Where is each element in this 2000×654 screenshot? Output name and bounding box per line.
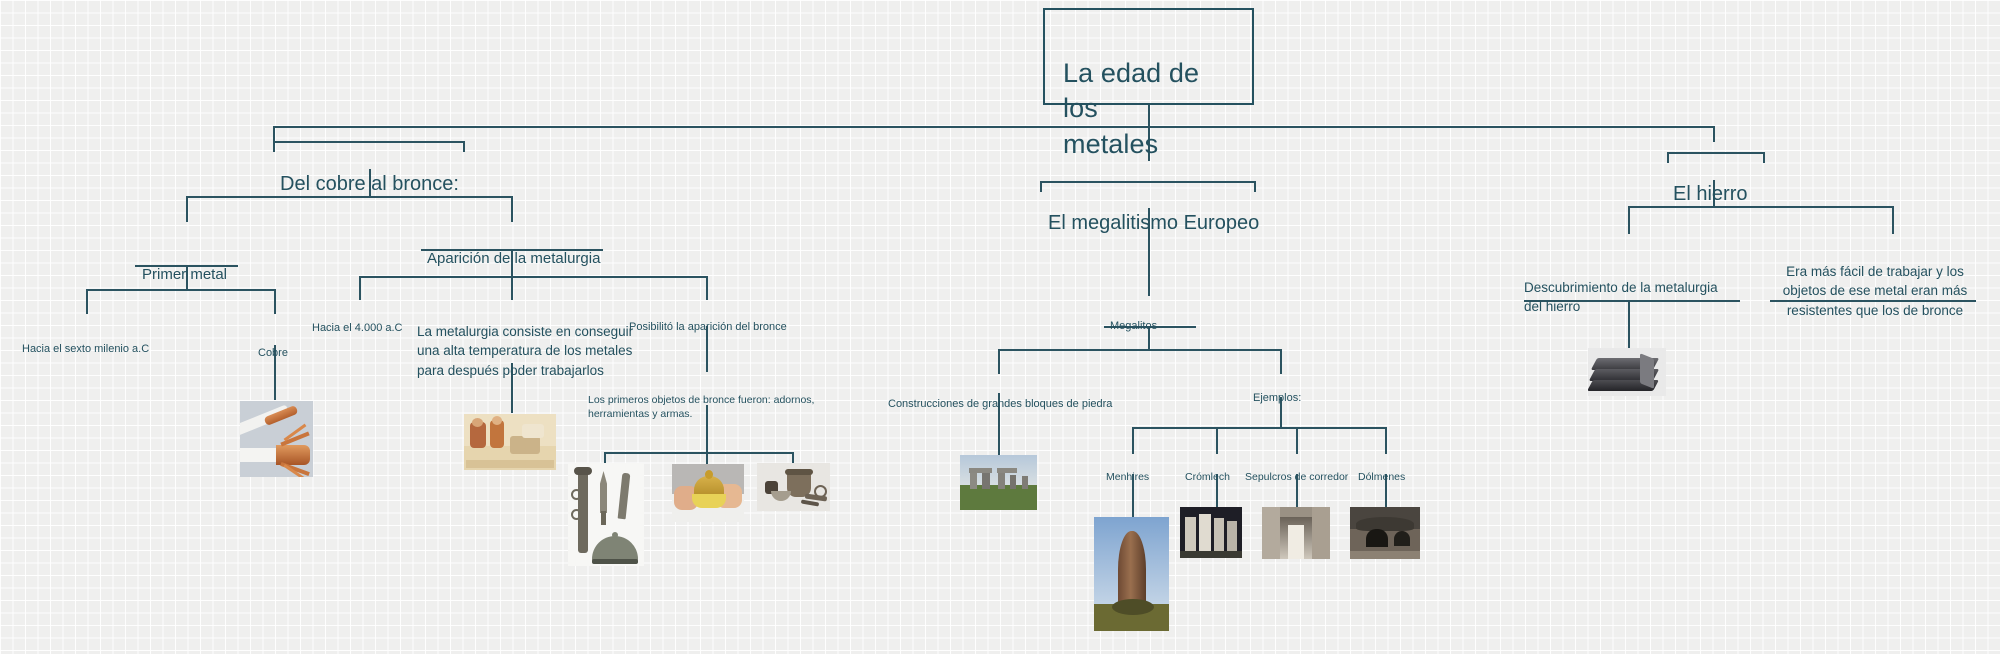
node-label: Hacia el sexto milenio a.C	[22, 343, 149, 355]
dolmen-photo[interactable]	[1350, 507, 1420, 559]
connector-to-construcciones	[998, 349, 1000, 374]
stonehenge-photo[interactable]	[960, 455, 1037, 510]
bronze-helmet-hands-photo[interactable]	[672, 464, 744, 522]
connector-drop-cobre	[273, 126, 275, 142]
bronze-vessels-photo[interactable]	[757, 463, 830, 511]
root-title-box[interactable]: La edad de los metales	[1043, 8, 1254, 105]
connector-to-bronze-img2	[706, 452, 708, 464]
node-el-megalitismo-europeo[interactable]: El megalitismo Europeo	[1048, 186, 1308, 236]
node-el-hierro[interactable]: El hierro	[1673, 157, 1813, 207]
tick-cobre-bronce-left	[273, 141, 275, 152]
connector-to-primer-metal	[186, 196, 188, 222]
iron-bars-photo[interactable]	[1588, 348, 1666, 396]
underline-cobre-bronce	[273, 141, 465, 143]
node-label: Primer metal	[142, 266, 227, 283]
connector-to-definicion	[511, 276, 513, 300]
connector-primer-metal-bus	[86, 289, 276, 291]
node-posibilito-aparicion-bronce[interactable]: Posibilitó la aparición del bronce	[629, 304, 819, 336]
node-label: Menhires	[1106, 471, 1149, 483]
node-megalitos[interactable]: Megalitos	[1110, 303, 1210, 335]
connector-to-cromlech	[1216, 427, 1218, 454]
node-label: Del cobre al bronce:	[280, 173, 459, 195]
node-definicion-metalurgia[interactable]: La metalurgia consiste en conseguir una …	[417, 302, 637, 380]
bronze-weapons-helmet-photo[interactable]	[568, 463, 644, 566]
node-label: Era más fácil de trabajar y los objetos …	[1783, 264, 1968, 318]
node-label: Dólmenes	[1358, 471, 1405, 483]
node-label: Megalitos	[1110, 320, 1157, 332]
node-label: Hacia el 4.000 a.C	[312, 322, 403, 334]
underline-hierro	[1667, 152, 1765, 154]
corridor-tomb-photo[interactable]	[1262, 507, 1330, 559]
node-label: Construcciones de grandes bloques de pie…	[888, 398, 1112, 410]
node-label: Ejemplos:	[1253, 392, 1301, 404]
node-primeros-objetos-bronce[interactable]: Los primeros objetos de bronce fueron: a…	[588, 378, 838, 422]
node-descubrimiento-metalurgia-hierro[interactable]: Descubrimiento de la metalurgia del hier…	[1524, 258, 1749, 317]
node-ventajas-hierro[interactable]: Era más fácil de trabajar y los objetos …	[1770, 242, 1980, 320]
connector-to-sexto-milenio	[86, 289, 88, 314]
connector-to-posibilito	[706, 276, 708, 300]
copper-wire-photo[interactable]	[240, 401, 313, 477]
tick-megalitismo-left	[1040, 181, 1042, 192]
connector-to-ejemplos	[1280, 349, 1282, 374]
connector-top-spine	[273, 126, 1714, 128]
node-label: Sepulcros de corredor	[1245, 471, 1348, 483]
menhir-photo[interactable]	[1094, 517, 1169, 631]
connector-primeros-images-bus	[604, 452, 794, 454]
connector-to-ventajas	[1892, 206, 1894, 234]
node-label: La metalurgia consiste en conseguir una …	[417, 324, 633, 378]
connector-to-4000ac	[359, 276, 361, 300]
connector-to-sepulcros	[1296, 427, 1298, 454]
connector-to-aparicion	[511, 196, 513, 222]
connector-aparicion-bus	[359, 276, 708, 278]
node-label: Los primeros objetos de bronce fueron: a…	[588, 394, 814, 421]
node-label: Cobre	[258, 347, 288, 359]
node-menhires[interactable]: Menhires	[1106, 455, 1186, 484]
node-label: El megalitismo Europeo	[1048, 212, 1259, 234]
connector-to-cobre	[274, 289, 276, 314]
connector-to-dolmenes	[1385, 427, 1387, 454]
connector-to-menhires	[1132, 427, 1134, 454]
mindmap-canvas	[0, 0, 2000, 654]
smelting-furnace-illustration[interactable]	[464, 414, 556, 470]
node-label: Aparición de la metalurgia	[427, 250, 600, 267]
node-label: Posibilitó la aparición del bronce	[629, 321, 787, 333]
node-construcciones-bloques-piedra[interactable]: Construcciones de grandes bloques de pie…	[888, 381, 1148, 413]
underline-megalitismo	[1040, 181, 1256, 183]
node-label: Crómlech	[1185, 471, 1230, 483]
connector-megalitos-bus	[998, 349, 1282, 351]
node-dolmenes[interactable]: Dólmenes	[1358, 455, 1438, 484]
connector-root-stem	[1148, 105, 1150, 127]
node-primer-metal[interactable]: Primer metal	[142, 245, 282, 284]
node-ejemplos[interactable]: Ejemplos:	[1253, 375, 1343, 407]
node-del-cobre-al-bronce[interactable]: Del cobre al bronce:	[280, 147, 520, 197]
cromlech-photo[interactable]	[1180, 507, 1242, 558]
connector-ejemplos-bus	[1132, 427, 1385, 429]
tick-hierro-left	[1667, 152, 1669, 163]
node-aparicion-de-la-metalurgia[interactable]: Aparición de la metalurgia	[427, 229, 627, 268]
node-label: El hierro	[1673, 183, 1747, 205]
connector-to-descubrimiento	[1628, 206, 1630, 234]
node-label: Descubrimiento de la metalurgia del hier…	[1524, 280, 1718, 315]
connector-drop-hierro	[1713, 126, 1715, 142]
node-hacia-el-sexto-milenio[interactable]: Hacia el sexto milenio a.C	[22, 326, 212, 358]
